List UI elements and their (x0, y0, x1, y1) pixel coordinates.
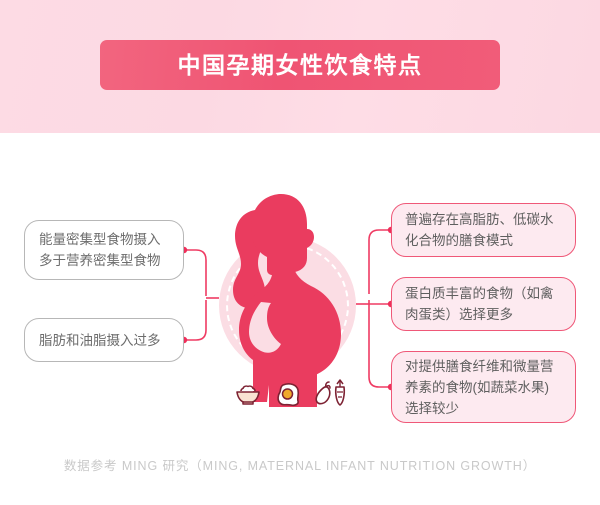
text-line: 普遍存在高脂肪、低碳水 (405, 209, 554, 230)
left-point-energy-dense-text: 能量密集型食物摄入 多于营养密集型食物 (39, 229, 161, 271)
food-icon-row (232, 376, 350, 412)
page-title: 中国孕期女性饮食特点 (178, 54, 423, 77)
text-line: 选择较少 (405, 398, 554, 419)
data-source-note: 数据参考 MING 研究（MING, MATERNAL INFANT NUTRI… (64, 459, 536, 473)
text-line: 化合物的膳食模式 (405, 230, 554, 251)
vegetables-icon (314, 377, 350, 411)
pregnant-woman-silhouette (183, 162, 393, 407)
text-line: 能量密集型食物摄入 (39, 229, 161, 250)
right-point-diet-pattern[interactable]: 普遍存在高脂肪、低碳水 化合物的膳食模式 (391, 203, 576, 257)
text-line: 养素的食物(如蔬菜水果) (405, 377, 554, 398)
infographic-canvas: 中国孕期女性饮食特点 (0, 0, 600, 505)
center-illustration (219, 237, 356, 374)
left-point-fat-intake[interactable]: 脂肪和油脂摄入过多 (24, 318, 184, 362)
fried-egg-icon (273, 378, 305, 410)
text-line: 多于营养密集型食物 (39, 250, 161, 271)
text-line: 肉蛋类）选择更多 (405, 304, 554, 325)
right-point-protein-rich-text: 蛋白质丰富的食物（如禽 肉蛋类）选择更多 (405, 283, 554, 325)
text-line: 对提供膳食纤维和微量营 (405, 356, 554, 377)
footer: 数据参考 MING 研究（MING, MATERNAL INFANT NUTRI… (0, 455, 600, 475)
right-point-diet-pattern-text: 普遍存在高脂肪、低碳水 化合物的膳食模式 (405, 209, 554, 251)
left-point-fat-intake-text: 脂肪和油脂摄入过多 (39, 330, 161, 351)
text-line: 脂肪和油脂摄入过多 (39, 330, 161, 351)
right-point-protein-rich[interactable]: 蛋白质丰富的食物（如禽 肉蛋类）选择更多 (391, 277, 576, 331)
right-point-fiber-micronutrient-text: 对提供膳食纤维和微量营 养素的食物(如蔬菜水果) 选择较少 (405, 356, 554, 419)
rice-bowl-icon (232, 378, 264, 410)
right-point-fiber-micronutrient[interactable]: 对提供膳食纤维和微量营 养素的食物(如蔬菜水果) 选择较少 (391, 351, 576, 423)
title-banner: 中国孕期女性饮食特点 (100, 40, 500, 90)
text-line: 蛋白质丰富的食物（如禽 (405, 283, 554, 304)
left-point-energy-dense[interactable]: 能量密集型食物摄入 多于营养密集型食物 (24, 220, 184, 280)
